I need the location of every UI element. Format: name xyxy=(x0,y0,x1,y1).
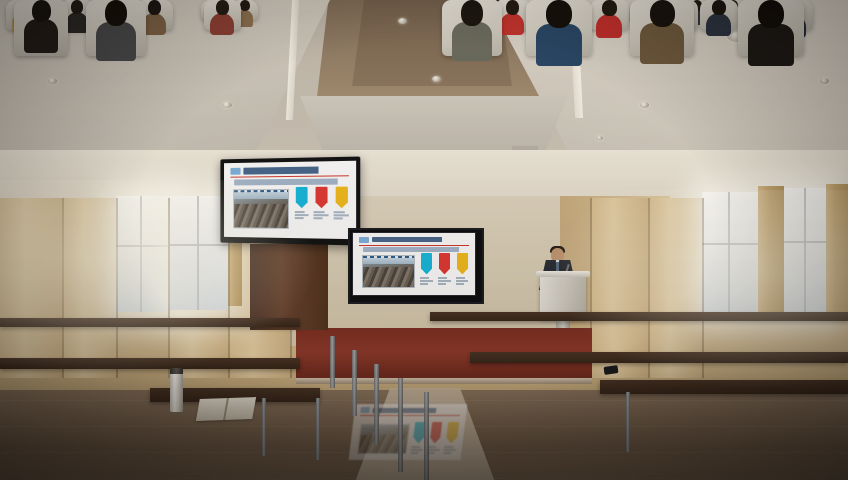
projection-screen[interactable] xyxy=(352,232,476,296)
front-wainscot-edge xyxy=(296,378,592,384)
audience-person xyxy=(66,0,88,30)
slide-ribbon-1 xyxy=(430,422,442,438)
slide-ribbon-group-tv xyxy=(292,187,352,231)
slide-ribbon-2 xyxy=(335,187,348,203)
aisle-chair-rail-0 xyxy=(330,336,335,388)
desk-leg-front-right xyxy=(626,392,630,452)
slide-render-tv xyxy=(224,161,356,239)
audience-person-torso xyxy=(596,14,622,38)
desk-leg-front-left-2 xyxy=(316,398,320,460)
audience-person-head xyxy=(546,0,572,28)
slide-ribbon-2 xyxy=(447,422,459,438)
partition-panel-0 xyxy=(0,198,62,378)
window-mullion-horizontal xyxy=(702,243,758,245)
audience-person xyxy=(596,0,622,34)
partition-seam-7 xyxy=(702,198,704,378)
audience-person-head xyxy=(602,0,617,16)
slide-subtitle-bar xyxy=(234,178,345,185)
downlight-icon-6 xyxy=(640,102,649,108)
audience-person-torso xyxy=(24,19,58,53)
slide-ribbon-caption-1 xyxy=(427,446,440,454)
slide-ribbon-group-reflection xyxy=(409,422,462,453)
slide-title xyxy=(359,235,469,244)
slide-title-badge xyxy=(359,237,369,243)
slide-ribbon-1 xyxy=(439,253,450,269)
aisle-chair-rail-3 xyxy=(398,378,403,472)
slide-title-text-bar xyxy=(372,237,469,242)
audience-person xyxy=(96,0,136,56)
audience-person xyxy=(748,0,794,60)
slide-ribbon-0 xyxy=(421,253,432,269)
slide-ribbon-col-2 xyxy=(333,187,350,219)
window-mullion-horizontal xyxy=(170,244,228,246)
audience-person-head xyxy=(712,0,726,15)
slide-render-projector xyxy=(353,233,475,295)
downlight-icon-5 xyxy=(820,78,829,84)
photo-rubble xyxy=(234,204,288,228)
slide-ribbon-caption-0 xyxy=(411,446,424,454)
thermos-flask xyxy=(170,372,183,412)
audience-person-torso xyxy=(748,24,794,66)
partition-seam-0 xyxy=(62,198,64,378)
curtain-right-inner xyxy=(758,186,784,318)
slide-title-badge xyxy=(360,407,370,412)
downlight-icon-1 xyxy=(222,102,232,108)
slide-ribbon-caption-2 xyxy=(334,211,349,219)
slide-ribbon-caption-1 xyxy=(438,277,452,285)
audience-person xyxy=(210,0,234,32)
speaker-head xyxy=(551,248,564,262)
audience-person-head xyxy=(506,0,519,15)
slide-title-rule xyxy=(359,245,469,246)
open-notebook xyxy=(196,397,256,421)
audience-person-head xyxy=(148,0,161,15)
desk-row-middle-right xyxy=(470,352,848,363)
slide-ribbon-col-2 xyxy=(443,422,461,454)
slide-ribbon-col-1 xyxy=(437,253,452,285)
slide-title-text-bar xyxy=(243,166,349,174)
audience-person xyxy=(640,0,684,58)
thermos-cap xyxy=(170,368,183,374)
slide-title xyxy=(230,164,349,176)
desk-row-back-left xyxy=(0,318,300,327)
slide-ribbon-1 xyxy=(315,187,327,203)
floor-slide-reflection xyxy=(349,404,468,460)
slide-ribbon-2 xyxy=(457,253,468,269)
slide-ribbon-caption-2 xyxy=(456,277,470,285)
audience-person-torso xyxy=(452,22,492,61)
window-mullion-vertical xyxy=(140,196,142,312)
partition-panel-5 xyxy=(648,198,702,378)
downlight-icon-3 xyxy=(432,76,441,82)
slide-ribbon-0 xyxy=(296,187,308,203)
audience-person-head xyxy=(461,0,483,26)
downlight-icon-2 xyxy=(398,18,407,24)
audience-person xyxy=(706,0,731,33)
aisle-chair-rail-4 xyxy=(424,392,429,480)
audience-person-torso xyxy=(500,13,524,35)
window-mullion-vertical xyxy=(728,192,730,314)
podium-top-surface xyxy=(536,271,590,277)
audience-person-head xyxy=(105,0,127,26)
downlight-icon-0 xyxy=(48,78,57,84)
audience-person-torso xyxy=(640,23,684,64)
curtain-right-outer xyxy=(826,184,848,320)
window-mullion-vertical xyxy=(804,188,806,314)
window-left-near xyxy=(170,196,228,310)
audience-person-head xyxy=(71,0,83,14)
partition-panel-4 xyxy=(590,198,648,378)
audience-person-torso xyxy=(536,24,582,66)
slide-ribbon-col-0 xyxy=(419,253,434,285)
tv-screen xyxy=(224,161,356,239)
audience-person-head xyxy=(758,0,784,28)
slide-title-badge xyxy=(230,167,240,174)
audience-person-torso xyxy=(706,13,731,36)
audience-person-head xyxy=(32,0,51,22)
window-right-far xyxy=(782,188,830,314)
window-left-far xyxy=(116,196,168,312)
audience-person-head xyxy=(216,0,229,15)
audience-person-head xyxy=(650,0,675,27)
slide-title-text-bar xyxy=(372,408,461,413)
slide-disaster-photo xyxy=(233,189,289,229)
wall-mounted-tv[interactable] xyxy=(220,157,360,246)
partition-seam-1 xyxy=(116,198,118,378)
slide-ribbon-caption-1 xyxy=(314,211,329,219)
photo-rubble xyxy=(363,267,414,286)
slide-ribbon-caption-0 xyxy=(420,277,434,285)
aisle-chair-rail-2 xyxy=(374,364,379,444)
audience-person xyxy=(24,0,58,48)
slide-ribbon-col-1 xyxy=(313,187,330,219)
partition-seam-2 xyxy=(168,198,170,378)
slide-ribbon-caption-2 xyxy=(444,446,457,454)
audience-person-torso xyxy=(66,12,88,33)
photo-top-strip xyxy=(363,256,414,258)
window-right-center xyxy=(702,192,758,314)
slide-render-reflection xyxy=(349,404,468,460)
audience-person-torso xyxy=(210,13,234,35)
desk-row-front-right xyxy=(600,380,848,394)
audience-person xyxy=(452,0,492,56)
window-mullion-vertical xyxy=(197,196,199,310)
window-mullion-horizontal xyxy=(116,245,168,247)
slide-subtitle-bar xyxy=(363,247,465,252)
partition-panel-1 xyxy=(62,198,116,378)
downlight-icon-8 xyxy=(596,136,603,140)
slide-ribbon-col-0 xyxy=(294,187,310,219)
conference-room-photo xyxy=(0,0,848,480)
slide-disaster-photo xyxy=(362,255,415,288)
audience-person xyxy=(536,0,582,60)
aisle-chair-rail-1 xyxy=(352,350,357,416)
audience-person-head xyxy=(240,0,250,11)
desk-leg-front-left xyxy=(262,398,266,456)
desk-row-middle-left xyxy=(0,358,300,369)
audience-person-torso xyxy=(96,22,136,61)
slide-ribbon-col-2 xyxy=(455,253,470,285)
photo-top-strip xyxy=(234,190,288,193)
partition-seam-6 xyxy=(648,198,650,378)
slide-ribbon-caption-0 xyxy=(294,211,309,219)
desk-row-back-right xyxy=(430,312,848,321)
slide-ribbon-col-1 xyxy=(426,422,444,454)
audience-person xyxy=(500,0,524,32)
slide-ribbon-group-projector xyxy=(418,253,472,288)
